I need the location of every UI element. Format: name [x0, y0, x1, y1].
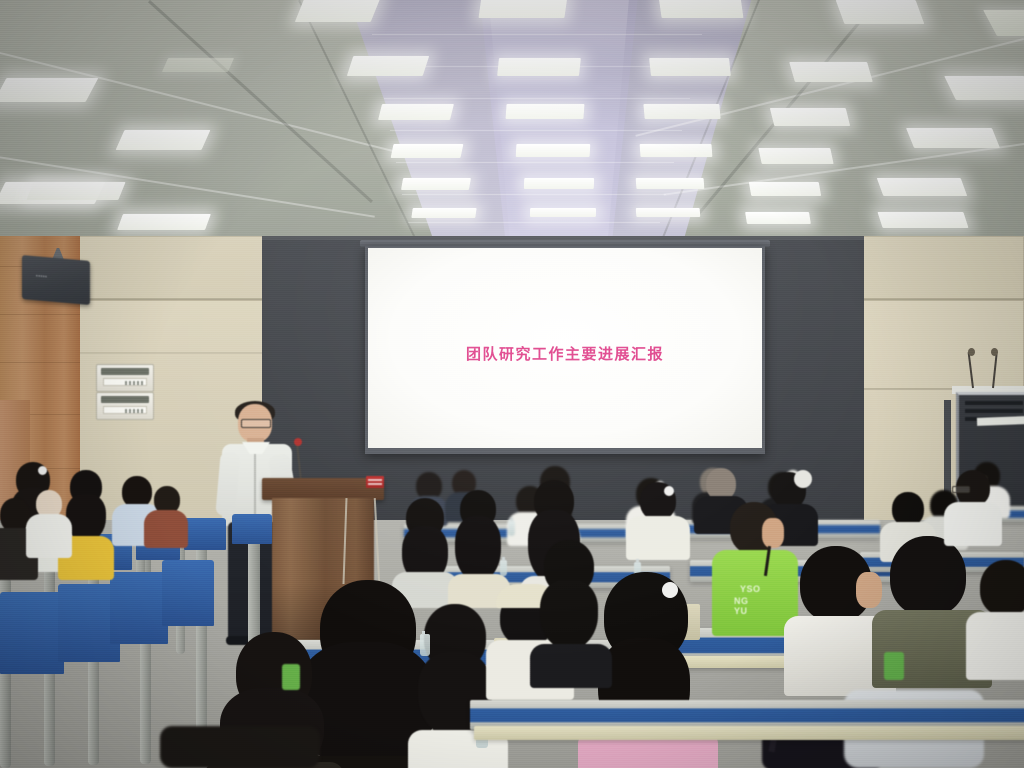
ceiling-light-panel — [877, 178, 968, 196]
ceiling-light-panel — [116, 130, 211, 150]
microphone-head-left — [968, 348, 975, 356]
wall-control-panel-lower[interactable] — [96, 392, 154, 420]
ceiling-light-panel — [749, 182, 821, 196]
podium-name-sign — [366, 476, 384, 488]
ceiling-light-panel — [117, 214, 211, 230]
lecture-seat[interactable] — [110, 572, 168, 644]
ceiling-light-panel — [758, 148, 833, 164]
podium-microphone-head — [294, 438, 302, 446]
green-tshirt-text-line2: NG YU — [734, 596, 749, 616]
ceiling-light-panel — [378, 104, 454, 120]
wall-speaker: ▪▪▪▪▪ — [22, 255, 90, 305]
water-bottle — [508, 520, 515, 536]
ceiling-light-panel — [906, 128, 1000, 148]
ceiling — [0, 0, 1024, 248]
wall-panel-upper-right — [862, 236, 1024, 300]
wall-control-panel-upper[interactable] — [96, 364, 154, 392]
ceiling-light-panel — [347, 56, 429, 76]
ceiling-light-panel — [295, 0, 382, 22]
ceiling-light-panel — [391, 144, 464, 158]
ceiling-light-panel — [401, 178, 471, 190]
ceiling-light-panel — [983, 10, 1024, 36]
ceiling-light-panel — [745, 212, 811, 224]
lecture-seat[interactable] — [232, 514, 272, 544]
lecture-seat[interactable] — [184, 518, 226, 550]
ceiling-light-panel — [877, 212, 968, 228]
speaker-brand-label: ▪▪▪▪▪ — [36, 273, 47, 280]
projection-screen: 团队研究工作主要进展汇报 — [368, 248, 762, 448]
ceiling-light-panel — [643, 104, 720, 119]
wall-panel-upper-left — [78, 236, 264, 300]
ceiling-light-panel — [0, 78, 98, 102]
presenter-glasses — [241, 419, 271, 428]
green-item-on-desk — [282, 664, 300, 690]
green-tshirt-text-line1: YSO — [740, 584, 761, 594]
slide-title-text: 团队研究工作主要进展汇报 — [466, 343, 664, 364]
lecture-seat[interactable] — [0, 592, 64, 674]
ceiling-light-panel — [658, 0, 743, 18]
lecture-hall-photo: ▪▪▪▪▪ 团队研究工作主要进展汇报 — [0, 0, 1024, 768]
ceiling-rail — [148, 0, 373, 203]
ceiling-light-panel — [505, 104, 584, 119]
ceiling-light-panel — [162, 58, 234, 72]
ceiling-light-panel — [524, 178, 594, 189]
ceiling-light-panel — [26, 182, 125, 200]
ceiling-light-panel — [770, 108, 850, 126]
wall-seam — [78, 352, 264, 354]
ceiling-light-panel — [836, 0, 925, 24]
lecture-seat[interactable] — [162, 560, 214, 626]
ceiling-light-panel — [516, 144, 591, 157]
ceiling-light-panel — [649, 58, 731, 76]
water-bottle — [500, 560, 507, 576]
seated-person-clothing — [160, 726, 320, 768]
desk-surface-foreground — [474, 726, 1024, 740]
ceiling-light-panel — [636, 208, 701, 217]
ceiling-light-panel — [640, 144, 713, 157]
ceiling-light-panel — [944, 76, 1024, 100]
ceiling-light-panel — [530, 208, 596, 217]
green-item-on-desk — [884, 652, 904, 680]
water-bottle — [420, 634, 430, 656]
wall-seam — [862, 298, 1024, 300]
wall-seam — [78, 298, 264, 300]
ceiling-light-panel — [789, 62, 873, 82]
microphone-head-right — [991, 348, 998, 356]
ceiling-light-panel — [478, 0, 567, 18]
ceiling-light-panel — [636, 178, 705, 189]
ceiling-light-panel — [411, 208, 476, 218]
ceiling-light-panel — [497, 58, 581, 76]
